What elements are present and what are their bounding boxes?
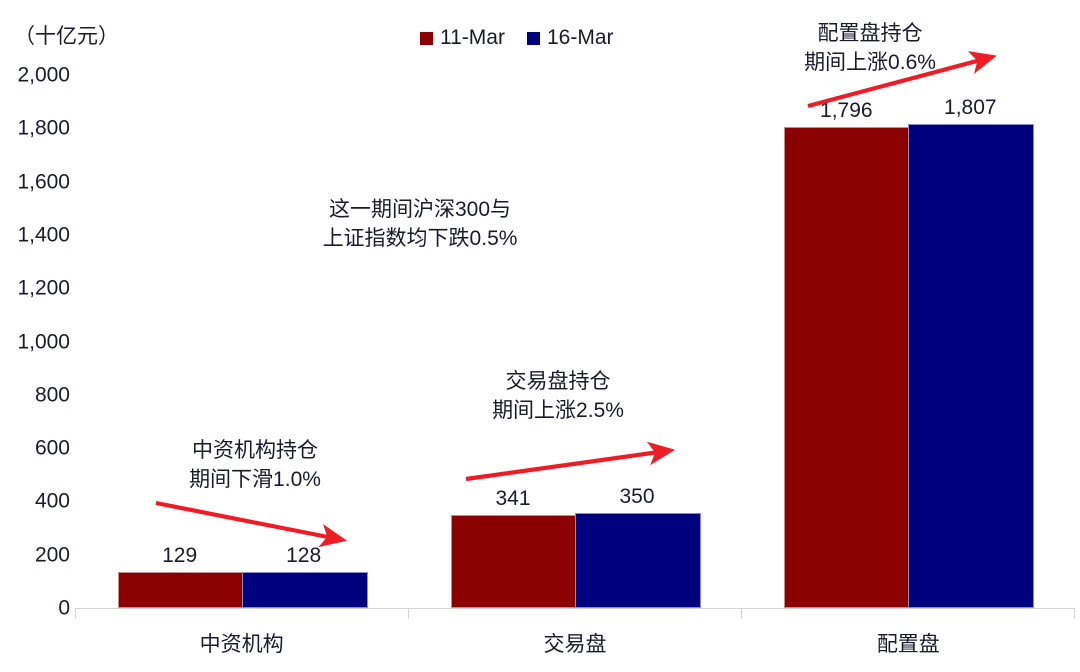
bar-中资机构-11-Mar[interactable]	[118, 572, 244, 608]
legend-item-16-mar[interactable]: 16-Mar	[527, 27, 614, 48]
annotation-market-line2: 上证指数均下跌0.5%	[295, 225, 545, 254]
bar-chart: （十亿元） 11-Mar 16-Mar 02004006008001,0001,…	[0, 0, 1080, 672]
y-axis-tick-label: 1,600	[0, 171, 70, 192]
plot-area	[75, 75, 1075, 608]
x-axis-line	[75, 608, 1075, 609]
annotation-market-line1: 这一期间沪深300与	[295, 196, 545, 225]
bar-中资机构-16-Mar[interactable]	[242, 572, 368, 608]
y-axis-tick-label: 800	[0, 384, 70, 405]
annotation-allocation: 配置盘持仓 期间上涨0.6%	[770, 20, 970, 78]
bar-value-label: 341	[451, 488, 575, 509]
x-axis-category-label: 中资机构	[75, 628, 408, 658]
y-axis-tick-label: 200	[0, 544, 70, 565]
y-axis: 02004006008001,0001,2001,4001,6001,8002,…	[0, 0, 70, 672]
legend-label-16-mar: 16-Mar	[547, 27, 614, 48]
annotation-trading-line2: 期间上涨2.5%	[458, 397, 658, 426]
bar-交易盘-16-Mar[interactable]	[575, 513, 701, 608]
legend-item-11-mar[interactable]: 11-Mar	[420, 27, 505, 48]
y-axis-tick-label: 1,800	[0, 118, 70, 139]
bar-value-label: 1,807	[908, 97, 1032, 118]
category-separator	[1074, 608, 1075, 619]
chart-legend: 11-Mar 16-Mar	[420, 27, 614, 48]
y-axis-tick-label: 600	[0, 438, 70, 459]
annotation-domestic: 中资机构持仓 期间下滑1.0%	[155, 437, 355, 495]
y-axis-tick-label: 1,400	[0, 224, 70, 245]
y-axis-tick-label: 2,000	[0, 65, 70, 86]
legend-label-11-mar: 11-Mar	[440, 27, 505, 48]
category-separator	[741, 608, 742, 619]
annotation-allocation-line1: 配置盘持仓	[770, 20, 970, 49]
legend-swatch-11-mar	[420, 32, 433, 45]
annotation-allocation-line2: 期间上涨0.6%	[770, 49, 970, 78]
bar-value-label: 129	[118, 545, 242, 566]
bar-配置盘-11-Mar[interactable]	[784, 127, 910, 608]
bar-配置盘-16-Mar[interactable]	[908, 124, 1034, 608]
annotation-market: 这一期间沪深300与 上证指数均下跌0.5%	[295, 196, 545, 254]
annotation-trading: 交易盘持仓 期间上涨2.5%	[458, 368, 658, 426]
x-axis-category-label: 配置盘	[742, 628, 1075, 658]
annotation-trading-line1: 交易盘持仓	[458, 368, 658, 397]
y-axis-tick-label: 1,000	[0, 331, 70, 352]
bar-value-label: 1,796	[784, 100, 908, 121]
category-separator	[75, 608, 76, 619]
bar-value-label: 128	[242, 545, 366, 566]
legend-swatch-16-mar	[527, 32, 540, 45]
bar-value-label: 350	[575, 486, 699, 507]
x-axis-category-label: 交易盘	[408, 628, 741, 658]
annotation-domestic-line2: 期间下滑1.0%	[155, 466, 355, 495]
category-separator	[408, 608, 409, 619]
y-axis-tick-label: 0	[0, 598, 70, 619]
y-axis-tick-label: 1,200	[0, 278, 70, 299]
annotation-domestic-line1: 中资机构持仓	[155, 437, 355, 466]
bar-交易盘-11-Mar[interactable]	[451, 515, 577, 608]
y-axis-tick-label: 400	[0, 491, 70, 512]
